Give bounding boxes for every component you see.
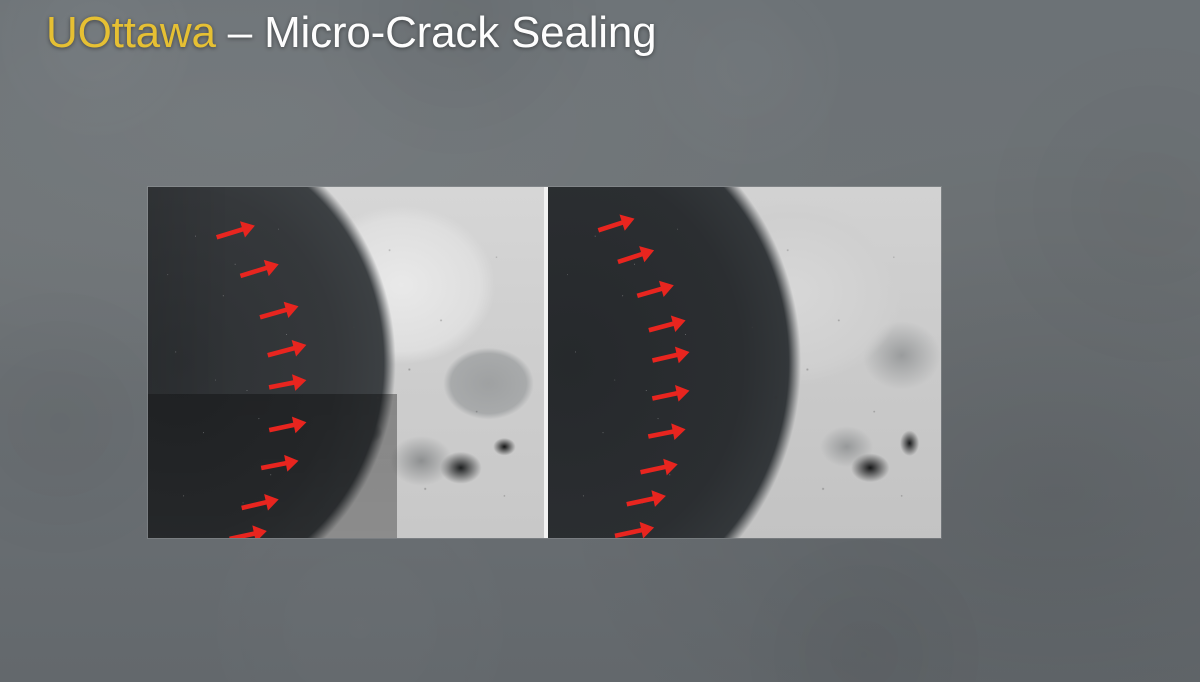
micrograph-figure bbox=[148, 187, 941, 538]
page-title: UOttawa – Micro-Crack Sealing bbox=[46, 8, 1200, 58]
micrograph-left-upper-shade bbox=[148, 187, 235, 394]
micrograph-left-seam-shade bbox=[148, 394, 397, 538]
micrograph-panel-right bbox=[548, 187, 941, 538]
micrograph-image-right bbox=[548, 187, 941, 538]
title-rest: – Micro-Crack Sealing bbox=[216, 8, 657, 57]
title-highlight: UOttawa bbox=[46, 8, 216, 57]
micrograph-panel-left bbox=[148, 187, 544, 538]
slide-canvas: UOttawa – Micro-Crack Sealing Microscopi… bbox=[0, 0, 1200, 682]
